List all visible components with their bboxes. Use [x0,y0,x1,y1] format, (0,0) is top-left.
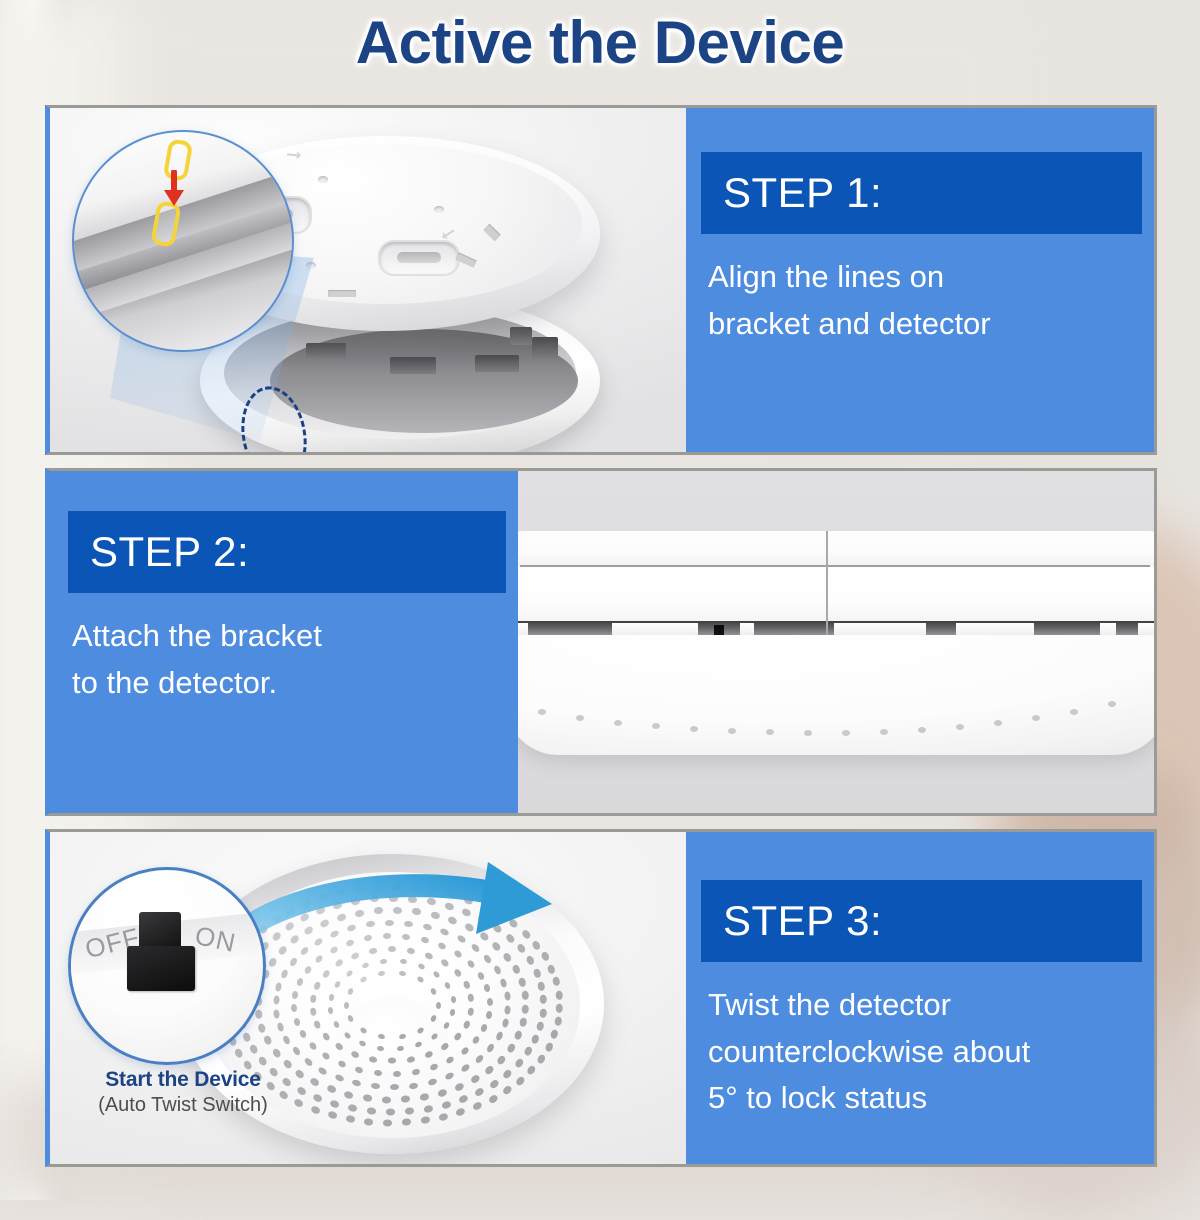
vent-perforation [343,1090,354,1099]
vent-perforation [484,1065,495,1076]
switch-caption-subtitle: (Auto Twist Switch) [68,1094,298,1117]
vent-perforation [652,723,660,729]
bracket-notch [306,343,346,359]
vent-perforation [334,1073,345,1082]
assembled-detector-side-view [518,531,1154,706]
rotation-arrow-engraving-icon: ➞ [285,143,303,168]
vent-perforation [1032,715,1040,721]
vent-perforation [728,728,736,734]
step-3-description: Twist the detector counterclockwise abou… [686,962,1154,1122]
vent-perforation [437,1088,448,1097]
vent-perforation [538,709,546,715]
vent-perforation [326,1085,337,1095]
vent-perforation [454,1082,465,1092]
step-1-header-bar: STEP 1: [701,152,1142,234]
vent-perforation [309,1077,320,1087]
alignment-tick [328,290,356,297]
step-2-illustration [518,471,1154,813]
bracket-cavity [270,329,578,433]
alignment-tick [483,224,501,242]
vent-perforation [458,1094,469,1104]
vent-perforation [544,1041,553,1052]
step-2-header-label: STEP 2: [90,528,249,576]
vent-perforation [401,1096,411,1103]
vent-perforation [474,1087,485,1098]
vent-perforation [386,1109,395,1116]
vent-perforation [402,1119,412,1126]
vent-perforation [472,1101,483,1111]
detector-pin-hole [434,206,444,213]
vent-perforation [470,1074,481,1085]
bracket-notch [510,327,532,345]
vent-perforation [474,1054,484,1065]
vent-perforation [614,720,622,726]
vent-perforation [234,1048,244,1059]
switch-caption-title: Start the Device [68,1068,298,1092]
vent-perforation [366,1107,376,1115]
detector-center-seam [826,531,828,641]
step-1-description: Align the lines on bracket and detector [686,234,1154,347]
switch-detail-inset: OFF ON [68,867,266,1065]
vent-perforation [502,1085,513,1096]
vent-perforation [423,1105,433,1113]
vent-perforation [527,1065,537,1076]
vent-perforation [420,1117,430,1125]
step-1-illustration: ➞ ➞ [50,108,686,452]
vent-perforation [690,726,698,732]
vent-perforation [503,1069,514,1080]
step-3-textblock: STEP 3: Twist the detector counterclockw… [686,832,1154,1164]
vent-perforation [444,1071,455,1081]
vent-perforation [364,1118,374,1126]
vent-perforation [347,1104,357,1113]
detector-slot-groove [397,252,441,263]
vent-perforation [804,730,812,736]
step-3-header-bar: STEP 3: [701,880,1142,962]
vent-perforation [489,1078,500,1089]
vent-perforation [427,1078,438,1087]
vent-perforation [345,1115,355,1124]
vent-perforation [409,1082,419,1090]
vent-perforation [352,1079,362,1087]
step-2-header-bar: STEP 2: [68,511,506,593]
vent-perforation [382,1096,391,1103]
vent-perforation [956,724,964,730]
vent-perforation [310,1105,321,1115]
vent-perforation [842,730,850,736]
vent-perforation [524,1046,534,1057]
detector-lower-dome [518,635,1154,755]
vent-perforation [258,1056,268,1067]
vent-perforation [404,1108,414,1115]
step-3-panel: OFF ON Start the Device (Auto Twist Swit… [45,829,1157,1167]
vent-perforation [456,1108,467,1118]
vent-perforation [536,1053,546,1064]
detector-pin-hole [318,176,328,183]
switch-tab-top[interactable] [139,912,181,950]
switch-caption: Start the Device (Auto Twist Switch) [68,1068,298,1117]
step-1-header-label: STEP 1: [723,169,882,217]
vent-perforation [438,1113,449,1122]
vent-perforation [880,729,888,735]
vent-perforation [994,720,1002,726]
detector-side-ring [518,567,1154,623]
vent-perforation [460,1046,470,1056]
vent-perforation [515,1075,526,1086]
vent-perforation [362,1094,372,1102]
vent-perforation [271,1047,281,1058]
bracket-notch [532,337,558,359]
bracket-notch [390,357,436,374]
step-3-header-label: STEP 3: [723,897,882,945]
vent-perforation [291,1046,301,1057]
vent-perforation [249,1044,259,1055]
vent-perforation [460,1063,471,1073]
vent-perforation [1108,701,1116,707]
vent-perforation [303,1057,314,1068]
step-2-description: Attach the bracket to the detector. [50,593,518,706]
vent-perforation [1070,709,1078,715]
vent-perforation [390,1084,399,1090]
vent-perforation [488,1094,499,1105]
vent-perforation [486,1043,496,1054]
vent-perforation [393,1071,401,1077]
bracket-notch [475,355,519,372]
vent-perforation [514,1058,524,1069]
switch-tab-body[interactable] [127,946,195,991]
vent-perforation [371,1083,381,1090]
align-direction-arrow-icon [154,170,198,210]
vent-perforation [506,1043,516,1054]
vent-perforation [445,1056,455,1066]
vent-perforation [327,1111,338,1120]
vent-perforation [321,1051,331,1061]
step-3-illustration: OFF ON Start the Device (Auto Twist Swit… [50,832,686,1164]
vent-perforation [329,1099,340,1108]
step-2-textblock: STEP 2: Attach the bracket to the detect… [50,471,518,813]
vent-perforation [441,1100,452,1109]
magnified-detail-view [72,130,294,352]
vent-perforation [766,729,774,735]
step-1-textblock: STEP 1: Align the lines on bracket and d… [686,108,1154,452]
page-title: Active the Device [0,8,1200,77]
vent-perforation [419,1093,429,1101]
vent-perforation [312,1093,323,1103]
vent-perforation [496,1054,506,1065]
vent-perforation [918,727,926,733]
vent-perforation [308,1041,318,1051]
vent-perforation [318,1066,329,1076]
step-2-panel: STEP 2: Attach the bracket to the detect… [45,468,1157,816]
vent-perforation [576,715,584,721]
vent-perforation [383,1120,392,1127]
step-1-panel: ➞ ➞ STEP 1: [45,105,1157,455]
